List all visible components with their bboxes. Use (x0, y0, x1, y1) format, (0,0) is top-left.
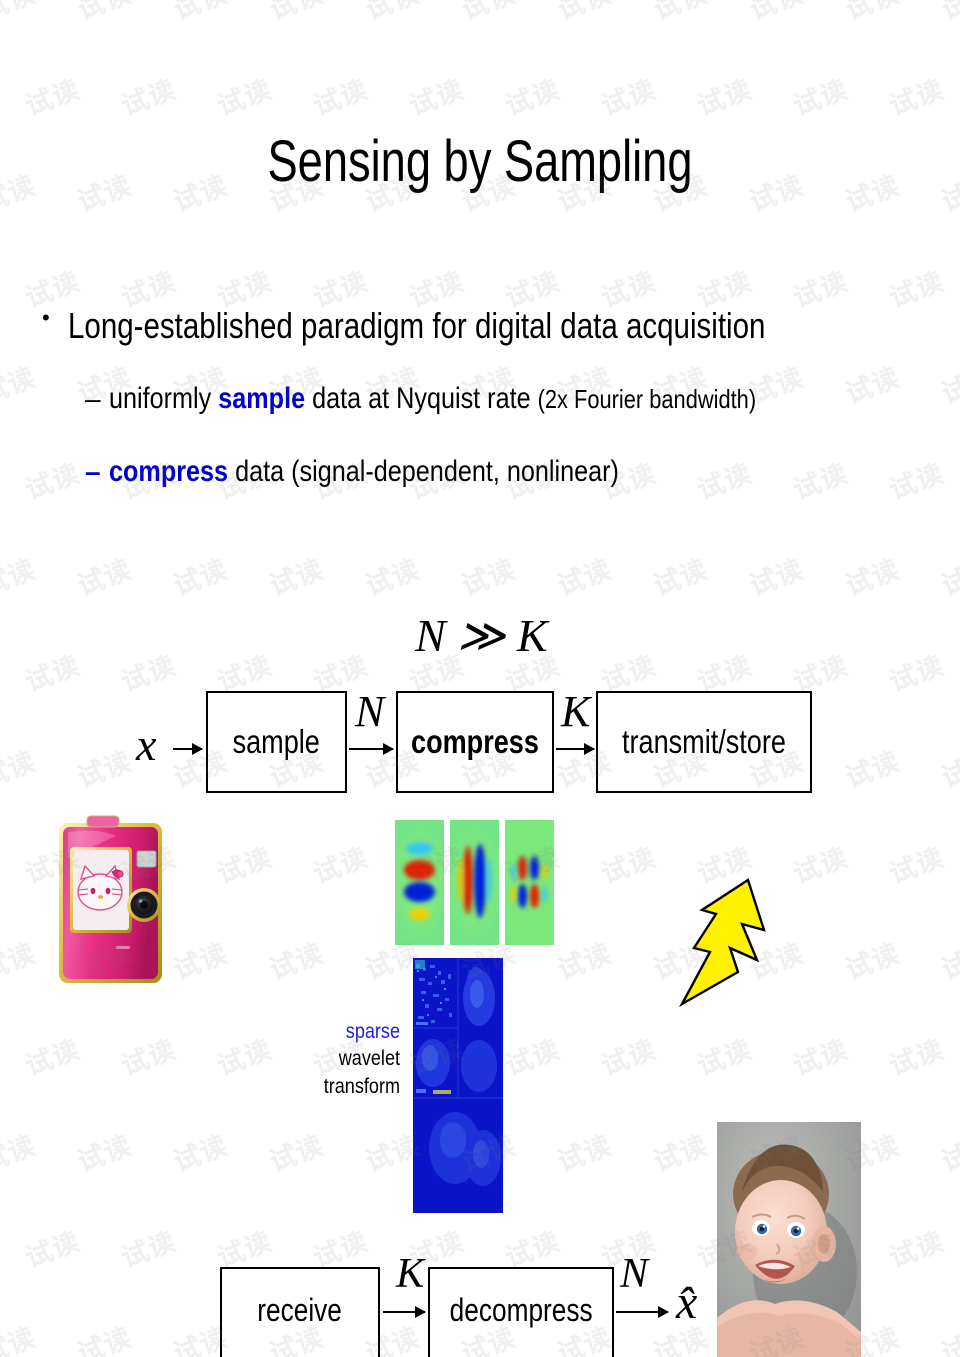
box-decompress[interactable]: decompress (428, 1267, 614, 1357)
caption-line-3: transform (267, 1073, 400, 1100)
watermark-text: 试读 (883, 644, 949, 700)
caption-line-2: wavelet (267, 1045, 400, 1072)
box-receive-label: receive (258, 1292, 343, 1329)
watermark-text: 试读 (883, 836, 949, 892)
watermark-text: 试读 (839, 932, 905, 988)
arrow-sample-to-compress (349, 748, 393, 750)
watermark-text: 试读 (263, 932, 329, 988)
edge-label-k-top: K (561, 686, 590, 737)
reconstructed-baby-image (717, 1122, 861, 1357)
watermark-text: 试读 (499, 68, 565, 124)
watermark-text: 试读 (551, 548, 617, 604)
watermark-text: 试读 (211, 68, 277, 124)
watermark-text: 试读 (691, 1028, 757, 1084)
watermark-text: 试读 (839, 740, 905, 796)
caption-line-1: sparse (267, 1018, 400, 1045)
watermark-text: 试读 (883, 1028, 949, 1084)
edge-label-n-top: N (355, 686, 384, 737)
watermark-text: 试读 (743, 0, 809, 27)
sub1-post: data at Nyquist rate (305, 382, 538, 415)
watermark-text: 试读 (263, 0, 329, 27)
watermark-text: 试读 (935, 932, 960, 988)
watermark-text: 试读 (935, 548, 960, 604)
watermark-text: 试读 (167, 932, 233, 988)
watermark-text: 试读 (595, 1028, 661, 1084)
edge-label-k-bottom: K (396, 1250, 424, 1298)
page-title: Sensing by Sampling (106, 128, 855, 195)
arrow-compress-to-transmit (556, 748, 594, 750)
watermark-text: 试读 (0, 932, 41, 988)
camera-image (54, 806, 170, 996)
watermark-text: 试读 (263, 1124, 329, 1180)
sub1-paren: (2x Fourier bandwidth) (538, 384, 757, 414)
sparse-coefficients-image (413, 958, 503, 1213)
watermark-text: 试读 (403, 68, 469, 124)
sparse-wavelet-transform-caption: sparse wavelet transform (245, 1018, 400, 1100)
watermark-text: 试读 (0, 0, 41, 27)
watermark-text: 试读 (883, 68, 949, 124)
wavelet-atom-1 (395, 820, 444, 945)
wavelet-atom-3 (505, 820, 554, 945)
watermark-text: 试读 (167, 548, 233, 604)
box-sample[interactable]: sample (206, 691, 347, 793)
sub1-pre: uniformly (109, 382, 218, 415)
watermark-text: 试读 (787, 836, 853, 892)
watermark-text: 试读 (359, 548, 425, 604)
input-symbol-x: x (136, 718, 156, 771)
watermark-text: 试读 (839, 548, 905, 604)
watermark-text: 试读 (551, 0, 617, 27)
watermark-text: 试读 (0, 1316, 41, 1357)
watermark-text: 试读 (19, 1220, 85, 1276)
watermark-text: 试读 (691, 68, 757, 124)
watermark-text: 试读 (115, 1220, 181, 1276)
slide-canvas: Sensing by Sampling •Long-established pa… (0, 0, 960, 1357)
watermark-text: 试读 (883, 1220, 949, 1276)
sub2-keyword: compress (109, 455, 228, 488)
watermark-text: 试读 (595, 68, 661, 124)
watermark-text: 试读 (71, 740, 137, 796)
box-sample-label: sample (233, 723, 320, 761)
watermark-text: 试读 (883, 452, 949, 508)
sub-bullet-sample: – uniformly sample data at Nyquist rate … (85, 382, 879, 416)
watermark-text: 试读 (0, 356, 41, 412)
relation-n-gg-k: N ≫ K (415, 608, 548, 662)
bullet-marker: • (42, 305, 68, 331)
watermark-text: 试读 (595, 836, 661, 892)
watermark-text: 试读 (935, 356, 960, 412)
wavelet-atoms-image (395, 820, 555, 945)
box-compress-label: compress (411, 723, 539, 761)
watermark-text: 试读 (935, 164, 960, 220)
watermark-text: 试读 (0, 164, 41, 220)
sub2-post: data (signal-dependent, nonlinear) (228, 455, 619, 488)
watermark-text: 试读 (455, 548, 521, 604)
arrow-receive-to-decompress (383, 1311, 425, 1313)
lightning-bolt-icon (672, 868, 777, 1010)
watermark-text: 试读 (455, 0, 521, 27)
watermark-text: 试读 (787, 1028, 853, 1084)
edge-label-n-bottom: N (620, 1250, 648, 1298)
watermark-text: 试读 (839, 0, 905, 27)
watermark-text: 试读 (647, 1124, 713, 1180)
sub1-keyword: sample (218, 382, 305, 415)
watermark-text: 试读 (71, 1316, 137, 1357)
watermark-text: 试读 (115, 68, 181, 124)
watermark-text: 试读 (935, 740, 960, 796)
watermark-text: 试读 (499, 1028, 565, 1084)
watermark-text: 试读 (307, 836, 373, 892)
wavelet-atom-2 (450, 820, 499, 945)
watermark-text: 试读 (787, 68, 853, 124)
watermark-text: 试读 (115, 644, 181, 700)
watermark-text: 试读 (167, 1124, 233, 1180)
watermark-text: 试读 (211, 836, 277, 892)
sub-bullet-compress: – compress data (signal-dependent, nonli… (85, 455, 716, 489)
main-bullet: •Long-established paradigm for digital d… (42, 305, 919, 347)
watermark-text: 试读 (551, 1124, 617, 1180)
box-compress[interactable]: compress (396, 691, 554, 793)
watermark-text: 试读 (115, 1028, 181, 1084)
watermark-text: 试读 (0, 1124, 41, 1180)
watermark-text: 试读 (935, 0, 960, 27)
watermark-text: 试读 (647, 0, 713, 27)
box-decompress-label: decompress (450, 1292, 593, 1329)
arrow-x-to-sample (173, 748, 202, 750)
watermark-text: 试读 (167, 0, 233, 27)
watermark-text: 试读 (19, 1028, 85, 1084)
watermark-text: 试读 (263, 548, 329, 604)
watermark-text: 试读 (19, 644, 85, 700)
sub-bullet-dash-2: – (85, 456, 109, 488)
watermark-text: 试读 (71, 0, 137, 27)
watermark-text: 试读 (19, 68, 85, 124)
watermark-text: 试读 (19, 452, 85, 508)
box-receive[interactable]: receive (220, 1267, 380, 1357)
watermark-text: 试读 (551, 932, 617, 988)
watermark-text: 试读 (71, 548, 137, 604)
output-symbol-xhat: x̂ (676, 1275, 697, 1330)
watermark-text: 试读 (71, 1124, 137, 1180)
watermark-text: 试读 (307, 68, 373, 124)
watermark-text: 试读 (935, 1124, 960, 1180)
sub-bullet-dash-1: – (85, 383, 109, 415)
arrow-decompress-to-xhat (616, 1311, 668, 1313)
watermark-text: 试读 (647, 548, 713, 604)
box-transmit-store[interactable]: transmit/store (596, 691, 812, 793)
watermark-text: 试读 (935, 1316, 960, 1357)
watermark-text: 试读 (0, 740, 41, 796)
main-bullet-text: Long-established paradigm for digital da… (68, 305, 765, 347)
watermark-text: 试读 (0, 548, 41, 604)
watermark-text: 试读 (743, 548, 809, 604)
box-transmit-store-label: transmit/store (622, 723, 786, 761)
watermark-text: 试读 (787, 452, 853, 508)
watermark-text: 试读 (359, 0, 425, 27)
